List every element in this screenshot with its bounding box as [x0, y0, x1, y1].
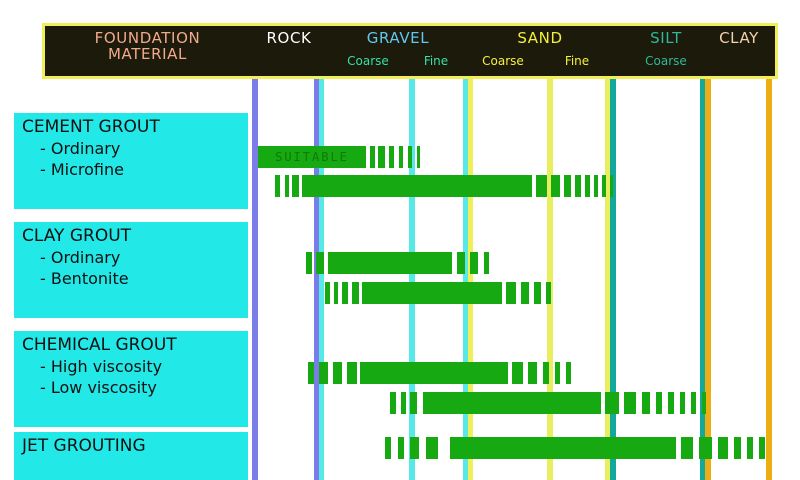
- bar-segment: [417, 146, 420, 168]
- bar-segment: [342, 282, 348, 304]
- bar-segment: [390, 392, 396, 414]
- category-subitem: - Low viscosity: [22, 377, 248, 398]
- category-subitem: - Ordinary: [22, 138, 248, 159]
- bar-segment: [624, 392, 636, 414]
- bar-segment: [457, 252, 465, 274]
- bar-segment: [408, 146, 412, 168]
- category-title: JET GROUTING: [22, 436, 248, 457]
- header-band: FOUNDATIONMATERIALROCKGRAVELCoarseFineSA…: [42, 23, 778, 79]
- bar-segment: [555, 362, 560, 384]
- bar-segment: [385, 437, 391, 459]
- bar-segment: [734, 437, 741, 459]
- bar-segment: [410, 392, 417, 414]
- boundary-line-clay-right: [766, 79, 772, 480]
- bar-segment: [370, 146, 375, 168]
- bar-segment: [302, 175, 532, 197]
- header-label-sand-coarse: Coarse: [468, 54, 538, 68]
- bar-segment: [450, 437, 676, 459]
- bar-segment: [536, 175, 547, 197]
- bar-segment: [362, 282, 502, 304]
- category-subitem: - Microfine: [22, 159, 248, 180]
- bar-segment: [378, 146, 385, 168]
- boundary-line-gravel-coarse-fine: [409, 79, 415, 480]
- bar-segment: [543, 362, 549, 384]
- boundary-line-gravel-sand-b: [468, 79, 473, 480]
- bar-segment: [325, 282, 330, 304]
- bar-segment: [398, 437, 404, 459]
- header-label-gravel-fine: Fine: [410, 54, 462, 68]
- header-label-line: ROCK: [248, 30, 330, 46]
- header-label-silt-coarse: Coarse: [630, 54, 702, 68]
- header-label-line: MATERIAL: [60, 46, 235, 62]
- bar-segment: [333, 362, 342, 384]
- header-label-sand-fine: Fine: [548, 54, 606, 68]
- bar-segment: [334, 282, 338, 304]
- header-label-line: Coarse: [630, 54, 702, 68]
- header-label-clay: CLAY: [706, 30, 772, 46]
- bar-segment: [275, 175, 280, 197]
- bar-segment: [656, 392, 662, 414]
- bar-segment: [512, 362, 523, 384]
- header-label-rock: ROCK: [248, 30, 330, 46]
- bar-segment: [410, 437, 419, 459]
- bar-segment: [718, 437, 728, 459]
- boundary-line-rock-gravel-left: [252, 79, 258, 480]
- boundary-line-silt-clay-b: [705, 79, 711, 480]
- bar-segment: [426, 437, 438, 459]
- bar-segment: [401, 392, 406, 414]
- header-label-line: Coarse: [468, 54, 538, 68]
- bar-segment: [566, 362, 571, 384]
- header-label-line: Coarse: [334, 54, 402, 68]
- header-label-line: Fine: [410, 54, 462, 68]
- bar-segment: [306, 252, 312, 274]
- bar-segment: [285, 175, 289, 197]
- header-label-line: SAND: [470, 30, 610, 46]
- header-label-line: CLAY: [706, 30, 772, 46]
- bar-segment: [316, 252, 324, 274]
- bar-segment: [484, 252, 489, 274]
- bar-segment: [605, 392, 619, 414]
- bar-segment: [610, 175, 613, 197]
- bar-segment: [506, 282, 516, 304]
- header-label-line: SILT: [630, 30, 702, 46]
- bar-segment: [551, 175, 560, 197]
- bar-segment: [668, 392, 674, 414]
- bar-segment: [521, 282, 529, 304]
- bar-segment: [389, 146, 394, 168]
- bar-segment: [328, 252, 452, 274]
- category-subitem: - Bentonite: [22, 268, 248, 289]
- header-label-line: FOUNDATION: [60, 30, 235, 46]
- bar-segment: [691, 392, 696, 414]
- boundary-line-sand-silt-b: [610, 79, 616, 480]
- category-title: CEMENT GROUT: [22, 117, 248, 138]
- bar-segment: [347, 362, 357, 384]
- bar-segment: [360, 362, 508, 384]
- header-label-line: GRAVEL: [334, 30, 462, 46]
- bar-segment: [575, 175, 581, 197]
- bar-segment: [699, 437, 712, 459]
- header-label-silt: SILT: [630, 30, 702, 46]
- bar-segment: [352, 282, 359, 304]
- header-label-line: Fine: [548, 54, 606, 68]
- bar-segment: [528, 362, 537, 384]
- bar-segment: [702, 392, 706, 414]
- bar-segment: [546, 282, 551, 304]
- bar-segment: [602, 175, 606, 197]
- category-subitem: - High viscosity: [22, 356, 248, 377]
- suitable-legend-label: SUITABLE: [275, 150, 349, 164]
- header-label-gravel-coarse: Coarse: [334, 54, 402, 68]
- header-label-sand: SAND: [470, 30, 610, 46]
- bar-segment: [642, 392, 650, 414]
- grout-applicability-chart: CEMENT GROUT- Ordinary- MicrofineCLAY GR…: [0, 0, 800, 480]
- category-title: CLAY GROUT: [22, 226, 248, 247]
- boundary-line-sand-coarse-fine: [547, 79, 553, 480]
- bar-segment: [680, 392, 685, 414]
- category-title: CHEMICAL GROUT: [22, 335, 248, 356]
- bar-segment: [681, 437, 693, 459]
- bar-segment: [594, 175, 598, 197]
- bar-segment: [292, 175, 299, 197]
- category-panel-cement-grout[interactable]: CEMENT GROUT- Ordinary- Microfine: [14, 113, 248, 209]
- bar-segment: [423, 392, 601, 414]
- category-panel-clay-grout[interactable]: CLAY GROUT- Ordinary- Bentonite: [14, 222, 248, 318]
- suitable-legend: SUITABLE: [258, 146, 366, 168]
- bar-segment: [308, 362, 314, 384]
- bar-segment: [534, 282, 541, 304]
- category-subitem: - Ordinary: [22, 247, 248, 268]
- category-panel-jet-grouting[interactable]: JET GROUTING: [14, 432, 248, 480]
- bar-segment: [564, 175, 571, 197]
- bar-segment: [747, 437, 753, 459]
- bar-segment: [470, 252, 478, 274]
- boundary-line-gravel-coarse-left-b: [319, 79, 324, 480]
- header-label-foundation: FOUNDATIONMATERIAL: [60, 30, 235, 62]
- bar-segment: [319, 362, 328, 384]
- header-label-gravel: GRAVEL: [334, 30, 462, 46]
- bar-segment: [759, 437, 765, 459]
- bar-segment: [399, 146, 403, 168]
- bar-segment: [585, 175, 590, 197]
- category-panel-chemical-grout[interactable]: CHEMICAL GROUT- High viscosity- Low visc…: [14, 331, 248, 427]
